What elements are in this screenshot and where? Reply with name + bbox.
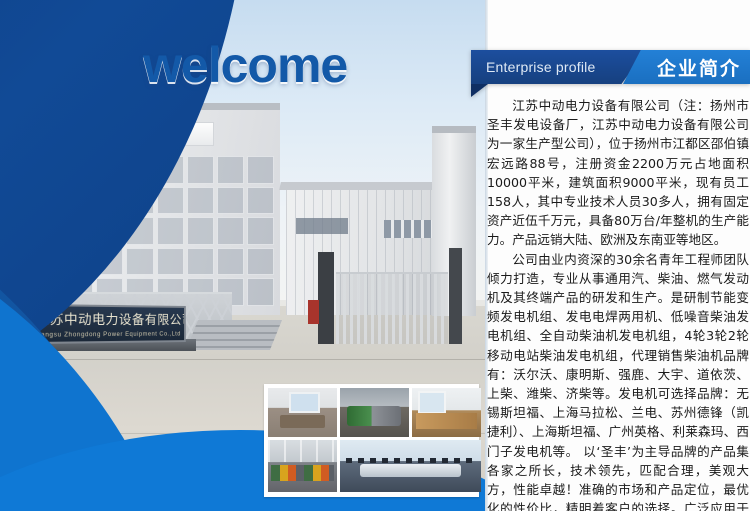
gate-pillar-right <box>449 248 462 344</box>
gate-pillar-left <box>318 252 334 344</box>
photo-assembly-plant <box>268 440 337 492</box>
window <box>187 187 214 215</box>
photo-conference-room <box>340 440 481 492</box>
window <box>217 248 244 276</box>
profile-paragraph-2: 公司由业内资深的30余名青年工程师团队倾力打造，专业从事通用汽、柴油、燃气发动机… <box>487 250 749 511</box>
window <box>217 217 244 245</box>
window <box>187 248 214 276</box>
window <box>217 187 244 215</box>
window <box>126 248 153 276</box>
window <box>247 156 274 184</box>
window <box>217 156 244 184</box>
retractable-gate-right <box>336 272 448 344</box>
profile-paragraph-1: 江苏中动电力设备有限公司（注：扬州市圣丰发电设备厂，江苏中动电力设备有限公司为一… <box>487 96 749 250</box>
window <box>247 278 274 306</box>
warehouse-eave <box>279 182 453 190</box>
ribbon-english-label: Enterprise profile <box>486 50 595 84</box>
photo-generator-sets <box>340 388 409 437</box>
plaque-english-name: Jiangsu Zhongdong Power Equipment Co.,Lt… <box>35 332 181 339</box>
window <box>187 217 214 245</box>
window <box>157 248 184 276</box>
warehouse-window <box>296 218 348 234</box>
entrance-steps <box>186 320 282 350</box>
window <box>187 156 214 184</box>
window <box>247 217 274 245</box>
section-header-ribbon: Enterprise profile 企业简介 <box>471 50 750 84</box>
photo-office-meeting <box>268 388 337 437</box>
gate-control-box <box>308 300 319 324</box>
warehouse-window <box>384 220 438 238</box>
facility-photo-gallery <box>264 384 479 497</box>
photo-reception-lobby <box>412 388 481 437</box>
welcome-headline: welcome <box>143 36 347 94</box>
window <box>157 217 184 245</box>
window <box>247 248 274 276</box>
profile-body-copy: 江苏中动电力设备有限公司（注：扬州市圣丰发电设备厂，江苏中动电力设备有限公司为一… <box>487 96 749 511</box>
company-profile-banner: 中动电力 <box>0 0 750 511</box>
window <box>247 187 274 215</box>
ribbon-chinese-label: 企业简介 <box>657 50 741 84</box>
